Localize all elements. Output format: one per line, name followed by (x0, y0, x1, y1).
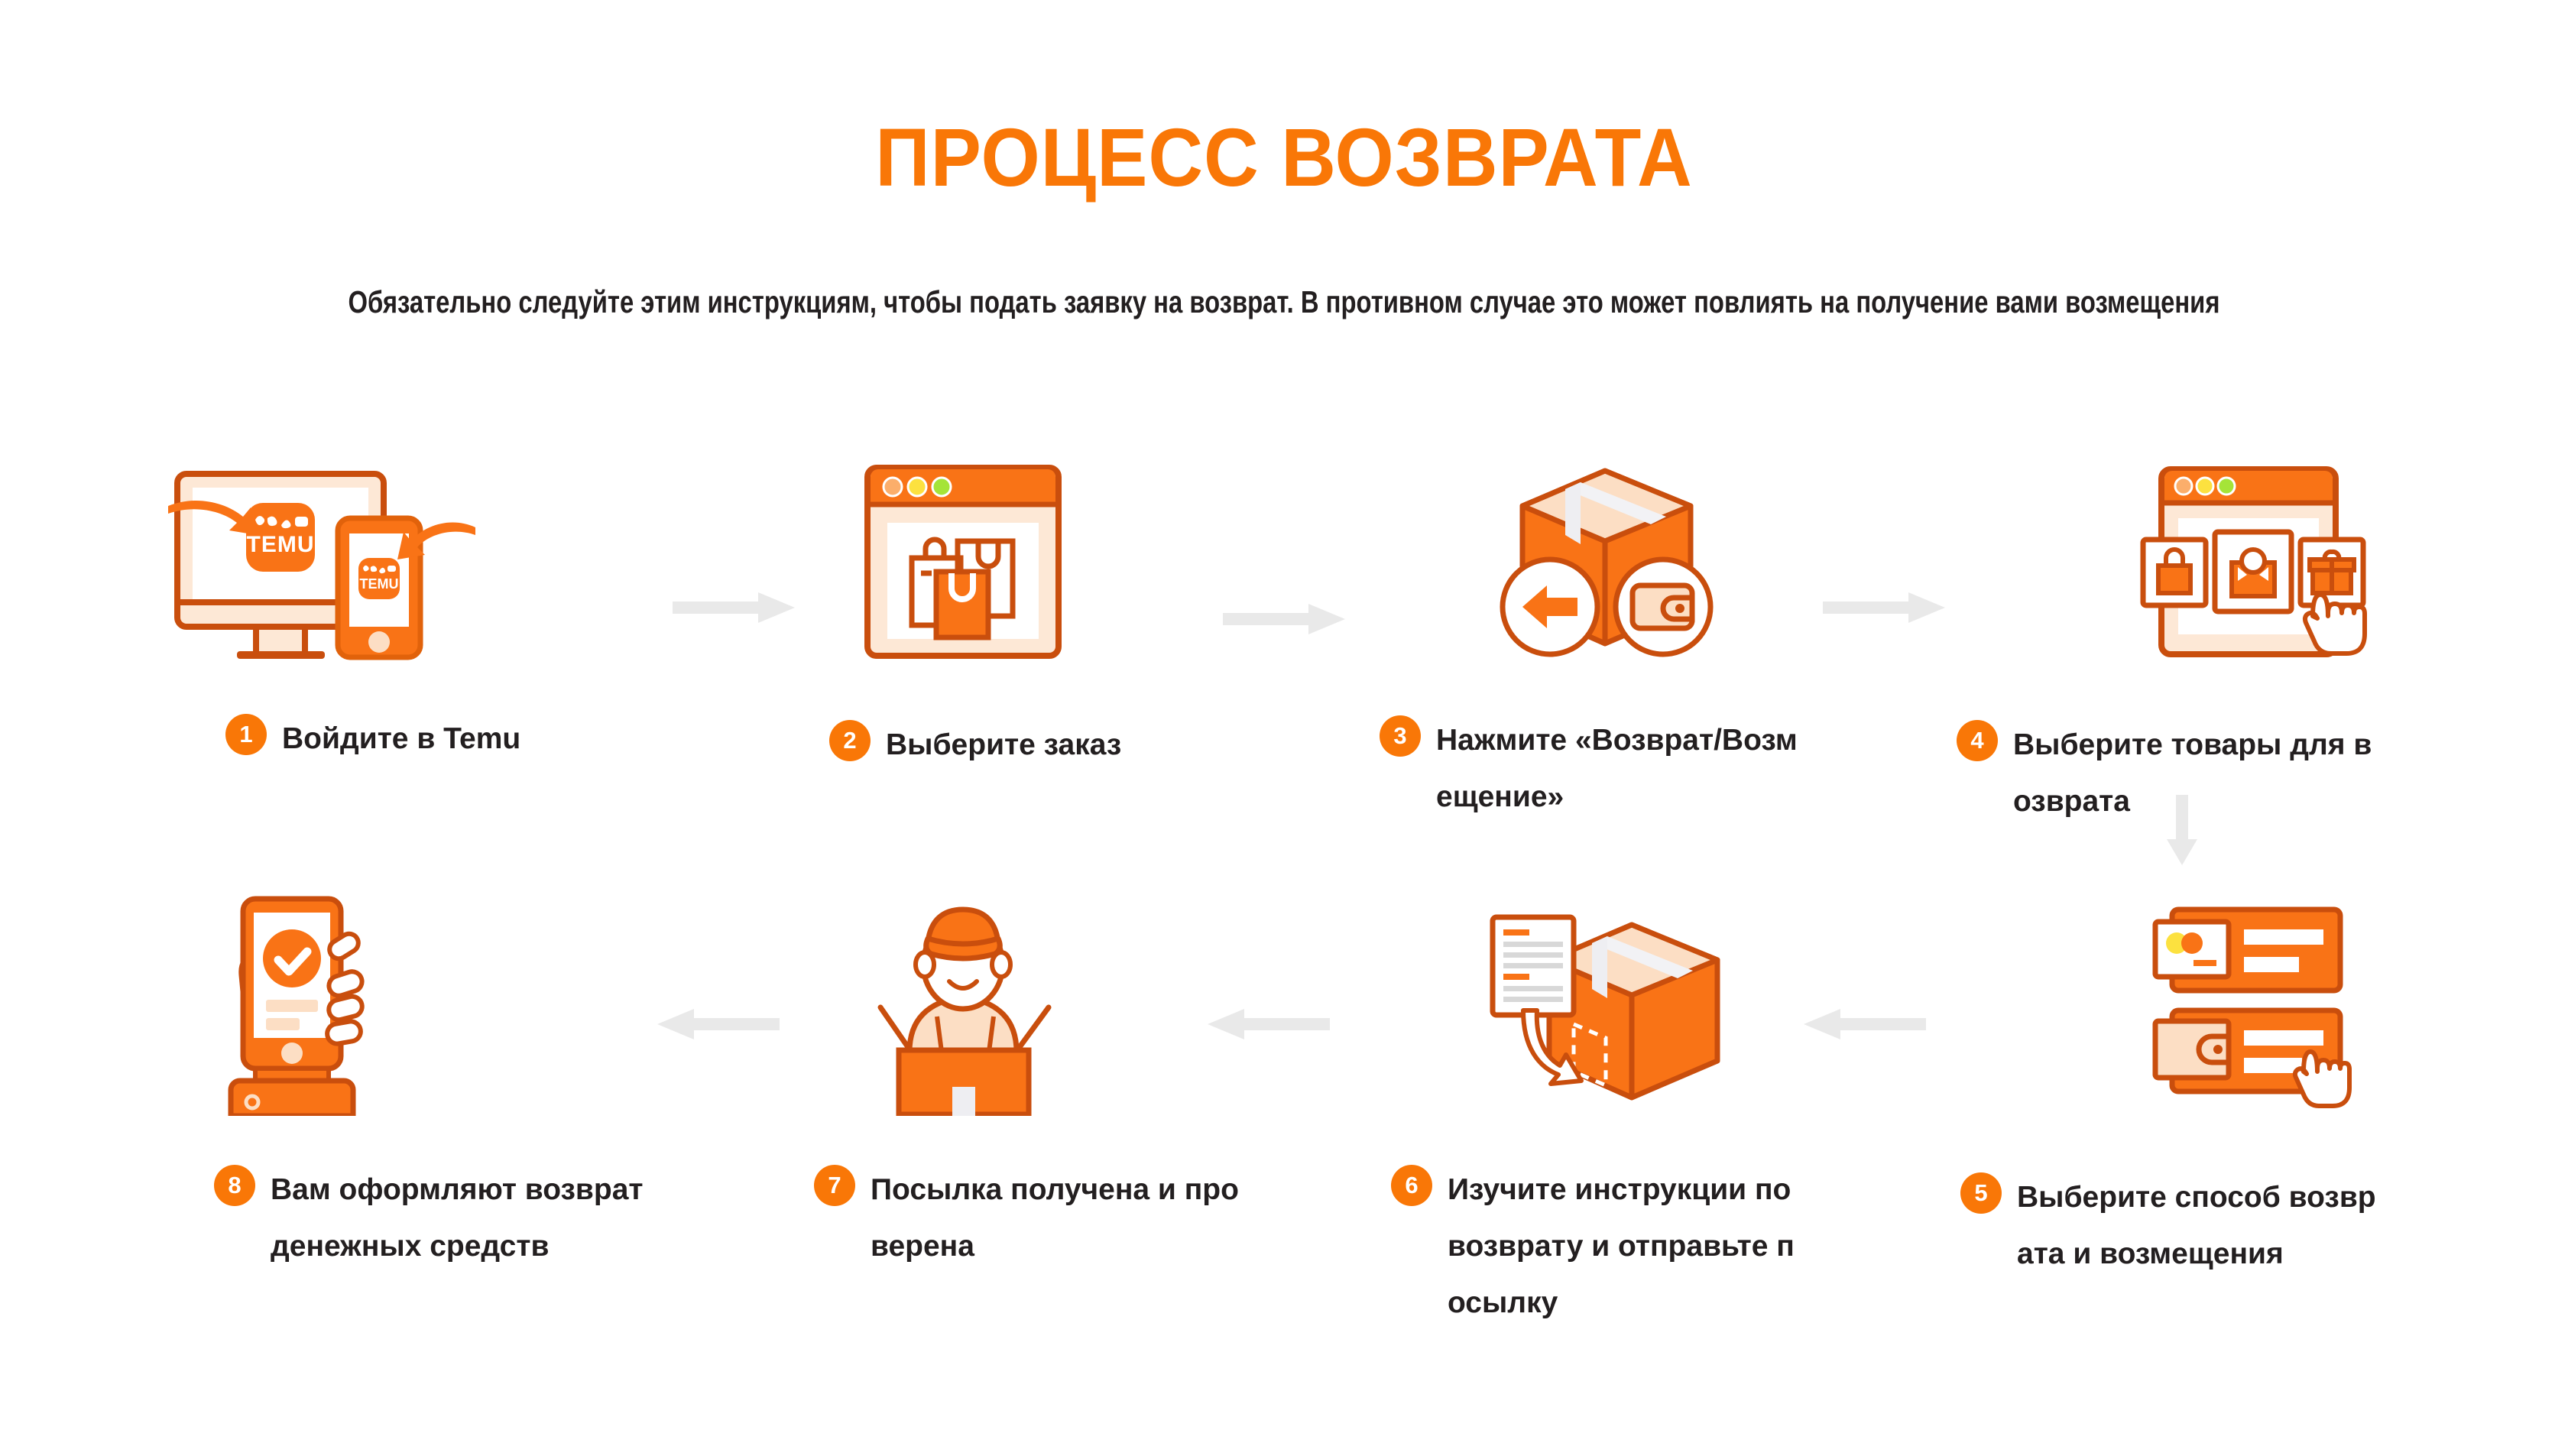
step-label-1: Войдите в Temu (282, 711, 557, 767)
step-caption-6: 6 Изучите инструкции по возврату и отпра… (1391, 1162, 1807, 1331)
browser-products-cursor-icon (2125, 451, 2369, 673)
step-6-illustration (1284, 894, 1926, 1116)
step-label-2: Выберите заказ (886, 717, 1161, 773)
window-dot-close (2175, 478, 2192, 495)
step-label-8: Вам оформляют возврат денежных средств (271, 1162, 645, 1275)
arrow-step4-to-step5 (2167, 795, 2197, 865)
step-badge-1: 1 (225, 714, 267, 755)
step-caption-7: 7 Посылка получена и проверена (814, 1162, 1245, 1275)
step-1-illustration: TEMU TEMU (0, 451, 642, 673)
step-caption-5: 5 Выберите способ возврата и возмещения (1960, 1169, 2376, 1283)
step-label-7: Посылка получена и проверена (871, 1162, 1245, 1275)
arrow-step6-to-step7 (1208, 1009, 1330, 1039)
step-badge-5: 5 (1960, 1172, 2002, 1214)
worker-inspecting-box-icon (848, 894, 1078, 1116)
window-dot-minimize (2197, 478, 2213, 495)
arrow-step7-to-step8 (657, 1009, 780, 1039)
browser-order-bags-icon (852, 451, 1074, 673)
payment-methods-cursor-icon (2132, 894, 2362, 1116)
step-caption-1: 1 Войдите в Temu (225, 711, 557, 767)
step-label-5: Выберите способ возврата и возмещения (2017, 1169, 2376, 1283)
hand-phone-check-icon (222, 894, 420, 1116)
desktop-phone-temu-icon: TEMU TEMU (160, 451, 481, 673)
step-2-illustration (642, 451, 1284, 673)
svg-text:TEMU: TEMU (360, 576, 399, 592)
step-label-6: Изучите инструкции по возврату и отправь… (1448, 1162, 1807, 1331)
step-badge-4: 4 (1957, 720, 1998, 761)
step-badge-3: 3 (1380, 715, 1421, 757)
instructions-box-icon (1479, 894, 1731, 1116)
step-badge-6: 6 (1391, 1165, 1432, 1206)
page-title: ПРОЦЕСС ВОЗВРАТА (102, 115, 2465, 200)
window-dot-close (884, 478, 902, 496)
step-caption-3: 3 Нажмите «Возврат/Возмещение» (1380, 712, 1811, 825)
step-badge-2: 2 (829, 720, 871, 761)
step-8-illustration (0, 894, 642, 1116)
svg-text:TEMU: TEMU (247, 532, 315, 557)
arrow-step3-to-step4 (1823, 592, 1945, 623)
step-7-illustration (642, 894, 1284, 1116)
box-return-wallet-icon (1483, 451, 1727, 673)
step-4-illustration (1926, 451, 2568, 673)
step-badge-8: 8 (214, 1165, 255, 1206)
arrow-step1-to-step2 (673, 592, 795, 623)
step-badge-7: 7 (814, 1165, 855, 1206)
step-caption-2: 2 Выберите заказ (829, 717, 1161, 773)
step-caption-8: 8 Вам оформляют возврат денежных средств (214, 1162, 645, 1275)
step-label-4: Выберите товары для возврата (2013, 717, 2388, 830)
step-5-illustration (1926, 894, 2568, 1116)
step-3-illustration (1284, 451, 1926, 673)
arrow-step2-to-step3 (1223, 604, 1345, 634)
window-dot-maximize (2218, 478, 2235, 495)
window-dot-maximize (932, 478, 951, 496)
arrow-step5-to-step6 (1804, 1009, 1926, 1039)
step-label-3: Нажмите «Возврат/Возмещение» (1436, 712, 1811, 825)
window-dot-minimize (908, 478, 926, 496)
page-subtitle: Обязательно следуйте этим инструкциям, ч… (349, 281, 2220, 323)
